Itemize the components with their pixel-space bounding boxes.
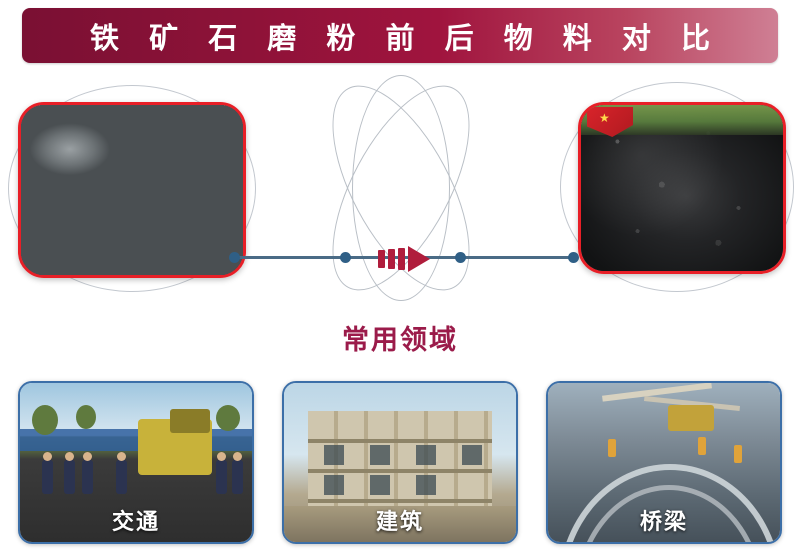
- floor-slab: [308, 469, 492, 473]
- card-building[interactable]: 建筑: [282, 381, 518, 544]
- title-banner: 铁 矿 石 磨 粉 前 后 物 料 对 比: [22, 8, 778, 63]
- comparison-section: ★: [0, 70, 800, 305]
- floor-slab: [308, 499, 492, 503]
- connector-node-mid-left: [340, 252, 351, 263]
- process-arrow-icon: [378, 246, 444, 272]
- application-cards: 交通 建筑 桥梁: [0, 381, 800, 546]
- connector-node-left: [229, 252, 240, 263]
- window-opening: [370, 445, 390, 465]
- window-opening: [370, 475, 390, 495]
- arrow-head: [408, 246, 430, 272]
- worker-figure: [42, 460, 53, 494]
- window-opening: [416, 445, 436, 465]
- worker-figure: [698, 437, 706, 455]
- section-title: 常用领域: [0, 318, 800, 357]
- arrow-bar-2: [388, 249, 395, 269]
- window-opening: [324, 445, 344, 465]
- worker-figure: [734, 445, 742, 463]
- tree-shape: [76, 405, 96, 429]
- arrow-bar-3: [398, 248, 405, 270]
- worker-figure: [116, 460, 127, 494]
- window-opening: [324, 475, 344, 495]
- worker-figure: [232, 460, 243, 494]
- card-label-building: 建筑: [284, 504, 516, 536]
- worker-figure: [64, 460, 75, 494]
- worker-figure: [82, 460, 93, 494]
- blue-wall: [20, 429, 252, 451]
- machine-cabin: [170, 409, 210, 433]
- tree-shape: [216, 405, 240, 431]
- connector-node-mid-right: [455, 252, 466, 263]
- tree-shape: [32, 405, 58, 435]
- card-label-traffic: 交通: [20, 504, 252, 536]
- crane-cab: [668, 405, 714, 431]
- connector-node-right: [568, 252, 579, 263]
- card-label-bridge: 桥梁: [548, 504, 780, 536]
- iron-ore-rocks-photo: [18, 102, 246, 278]
- page-title: 铁 矿 石 磨 粉 前 后 物 料 对 比: [80, 15, 720, 57]
- arrow-bar-1: [378, 250, 385, 268]
- card-traffic[interactable]: 交通: [18, 381, 254, 544]
- iron-ore-powder-photo: ★: [578, 102, 786, 274]
- rock-texture: [21, 105, 243, 275]
- worker-figure: [608, 439, 616, 457]
- powder-texture: ★: [581, 105, 783, 271]
- star-icon: ★: [599, 112, 610, 124]
- floor-slab: [308, 439, 492, 443]
- card-bridge[interactable]: 桥梁: [546, 381, 782, 544]
- window-opening: [416, 475, 436, 495]
- worker-figure: [216, 460, 227, 494]
- window-opening: [462, 445, 482, 465]
